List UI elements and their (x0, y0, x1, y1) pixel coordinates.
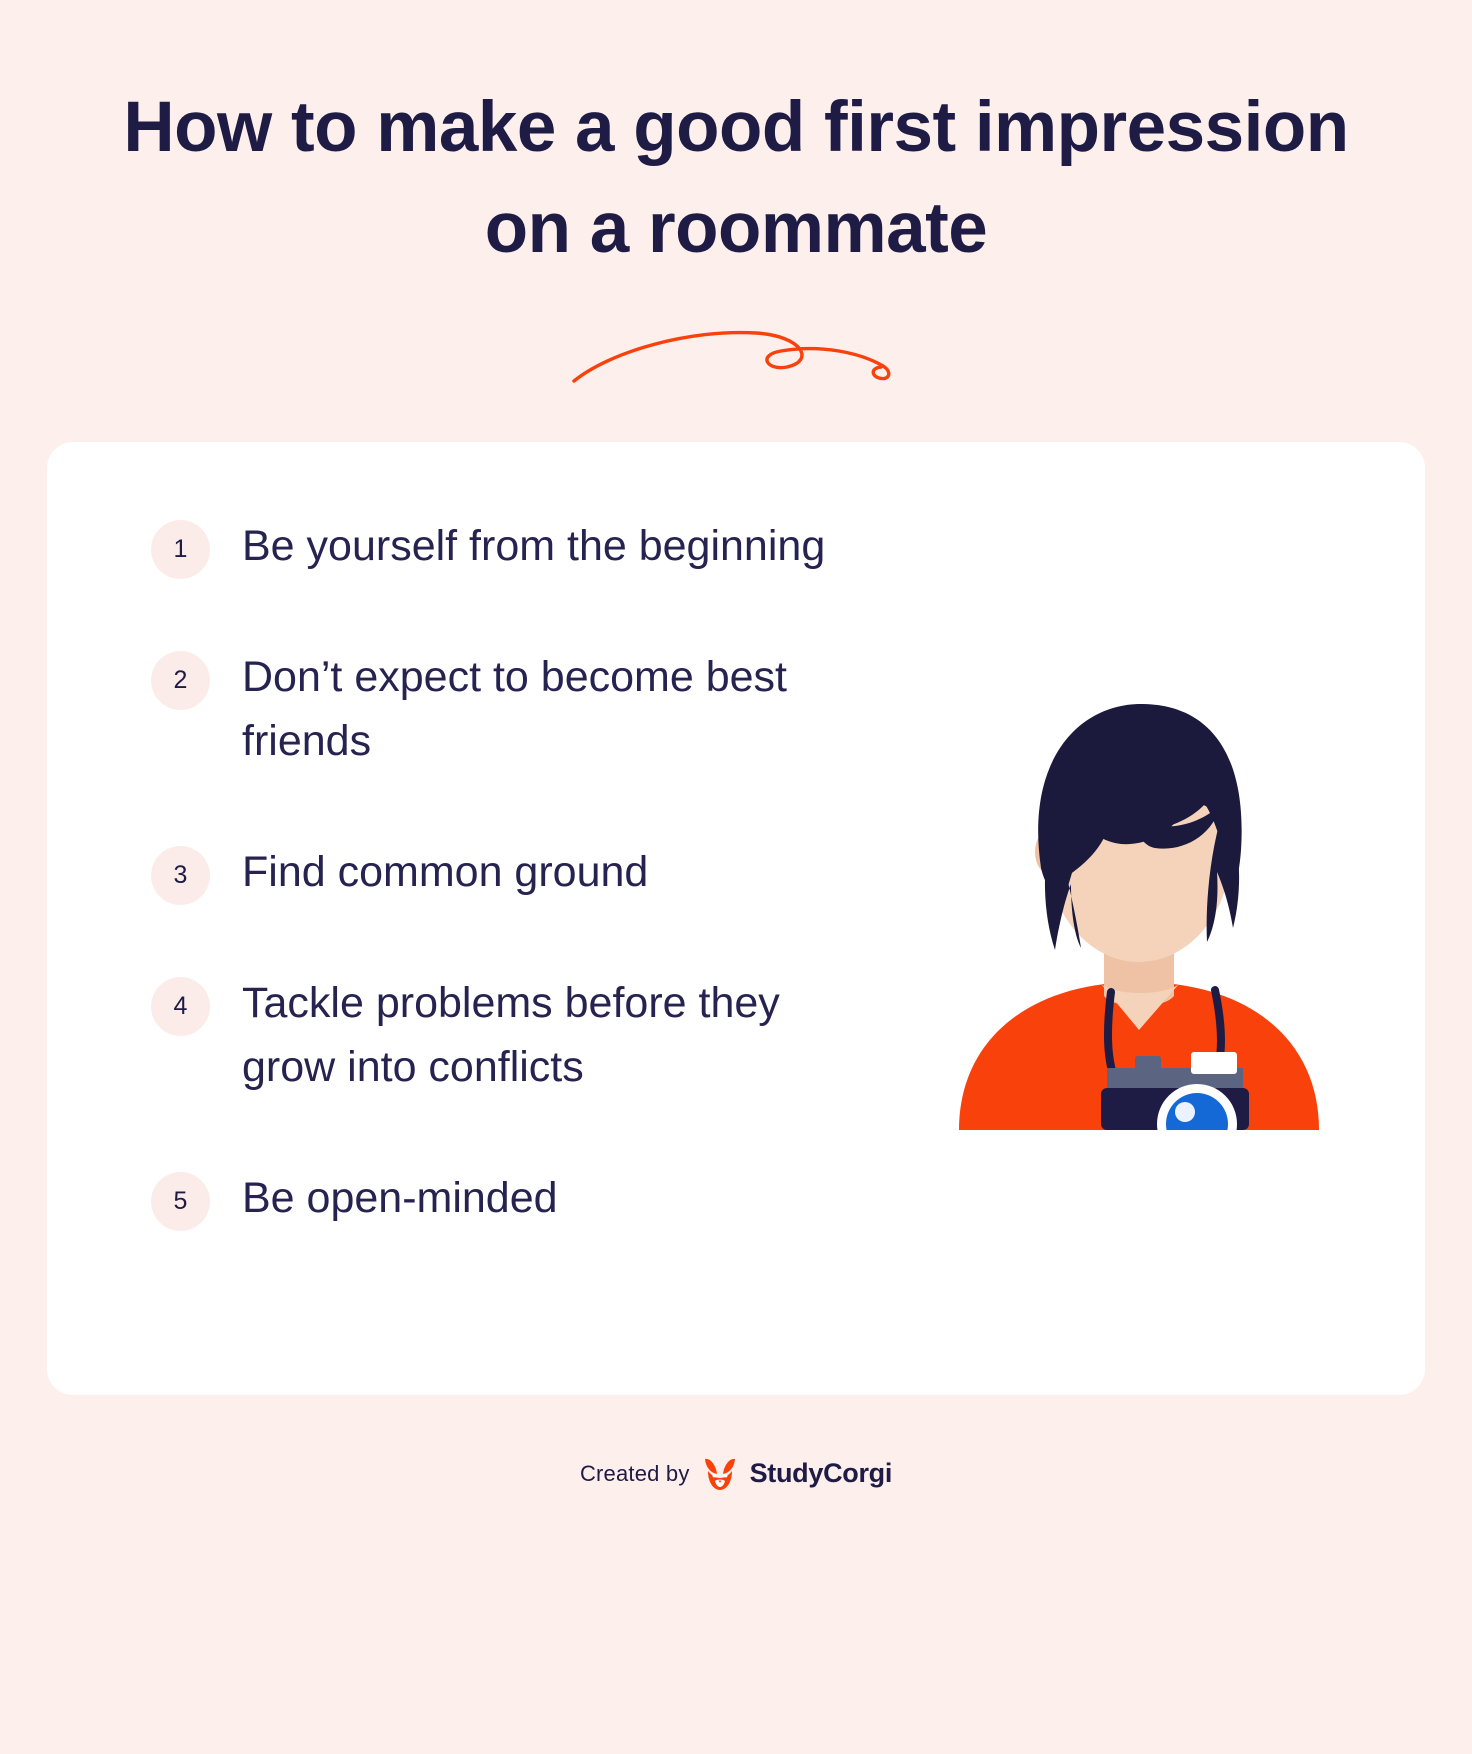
footer-credit: Created by StudyCorgi (580, 1457, 892, 1491)
tips-card: 1 Be yourself from the beginning 2 Don’t… (47, 442, 1425, 1395)
list-item-number: 3 (151, 846, 210, 905)
list-item: 2 Don’t expect to become best friends (151, 645, 871, 774)
list-item-label: Tackle problems before they grow into co… (242, 971, 862, 1100)
person-with-camera-illustration (929, 700, 1349, 1130)
list-item-label: Be yourself from the beginning (242, 514, 825, 579)
list-item: 5 Be open-minded (151, 1166, 871, 1231)
list-item-number: 5 (151, 1172, 210, 1231)
list-item-label: Find common ground (242, 840, 648, 905)
page-title-line-2: on a roommate (71, 179, 1401, 280)
page-title: How to make a good first impression on a… (71, 78, 1401, 280)
list-item: 3 Find common ground (151, 840, 871, 905)
list-item: 1 Be yourself from the beginning (151, 514, 871, 579)
corgi-logo-icon (702, 1457, 738, 1491)
list-item-label: Don’t expect to become best friends (242, 645, 862, 774)
brand-name: StudyCorgi (750, 1458, 893, 1489)
infographic-page: How to make a good first impression on a… (0, 0, 1472, 1754)
page-title-line-1: How to make a good first impression (71, 78, 1401, 179)
list-item-number: 4 (151, 977, 210, 1036)
list-item-number: 1 (151, 520, 210, 579)
tips-list: 1 Be yourself from the beginning 2 Don’t… (151, 514, 871, 1231)
squiggle-flourish-icon (526, 314, 946, 394)
list-item: 4 Tackle problems before they grow into … (151, 971, 871, 1100)
list-item-label: Be open-minded (242, 1166, 558, 1231)
list-item-number: 2 (151, 651, 210, 710)
created-by-label: Created by (580, 1461, 690, 1487)
